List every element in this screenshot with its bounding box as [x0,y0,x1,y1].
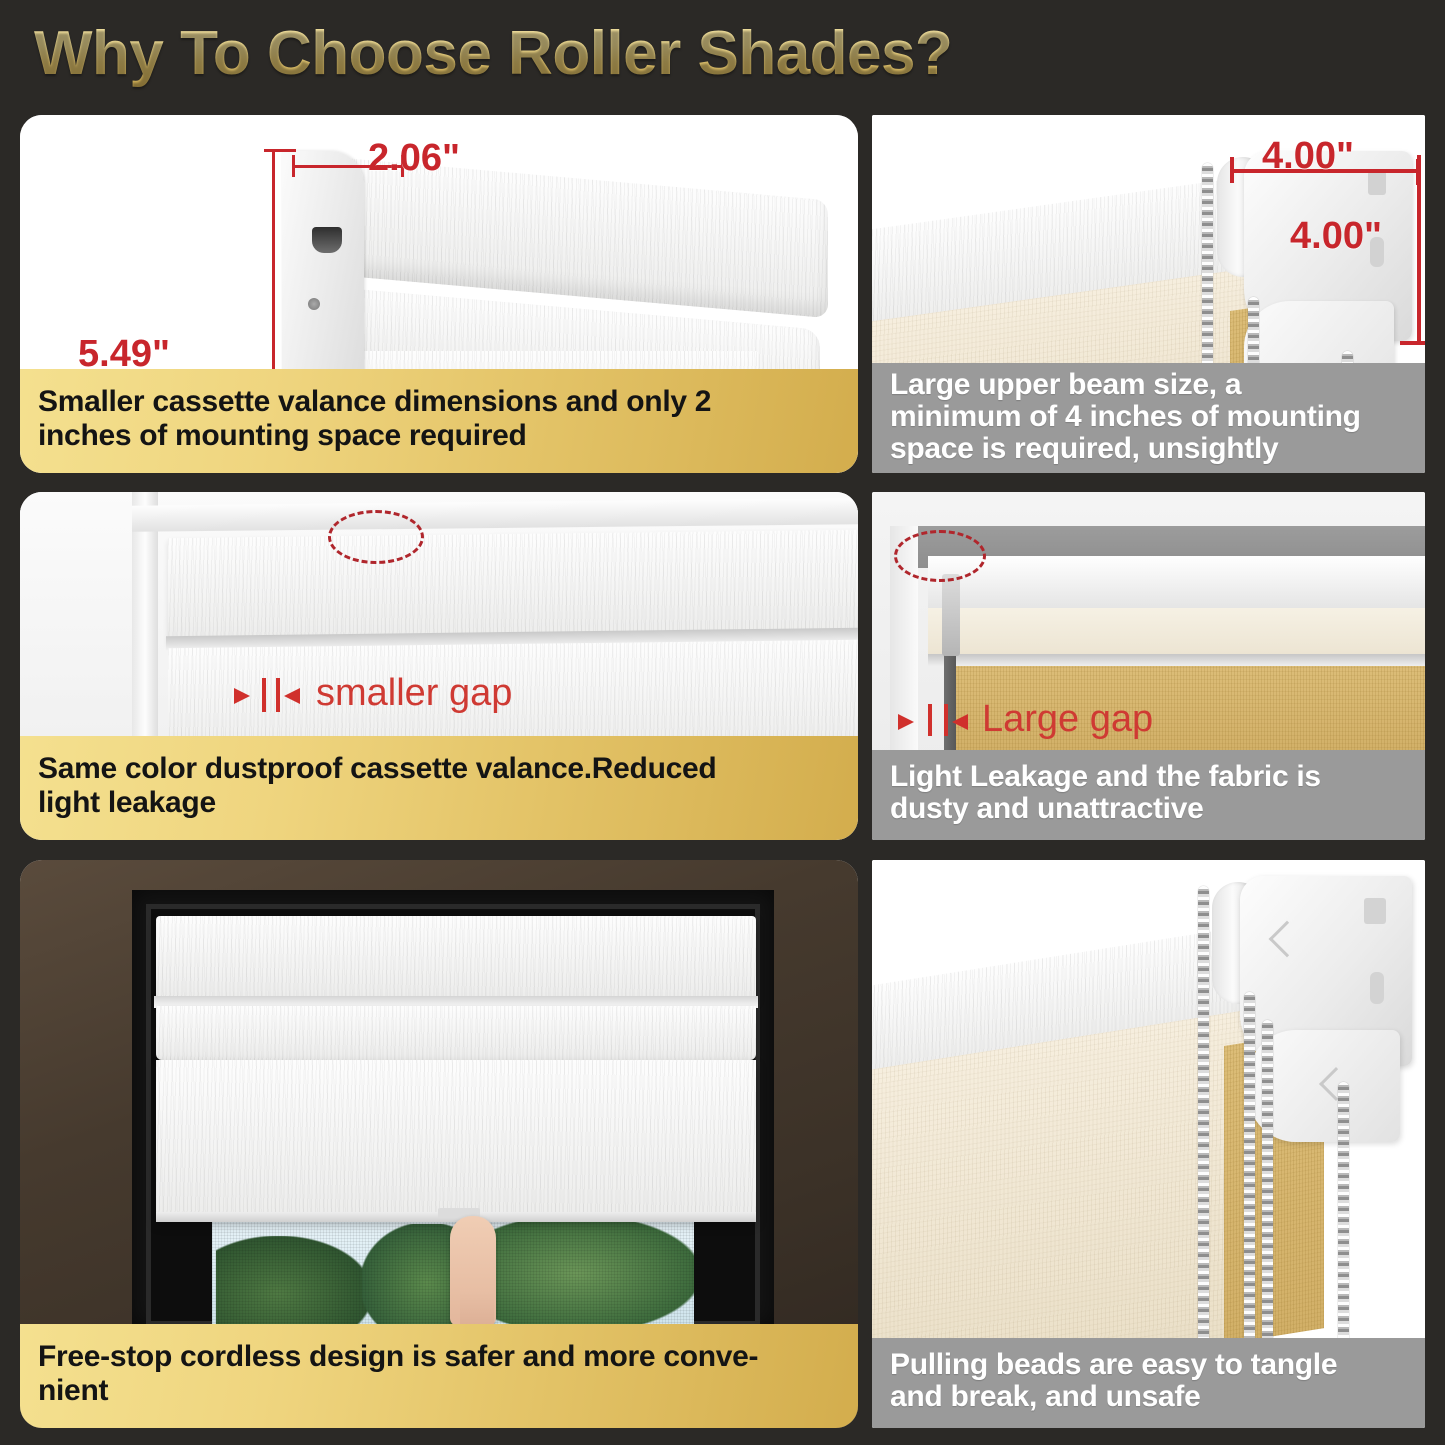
gap-tick-left [262,678,266,712]
beam-height-label: 4.00" [1290,215,1382,258]
caption-text: Large upper beam size, a minimum of 4 in… [890,369,1361,464]
bracket-clip [942,574,960,656]
gap-tick-left [928,704,932,736]
gap-arrow-right [952,714,968,730]
headrail-lower-edge [928,654,1425,666]
width-dimension-tick-left [292,155,295,177]
caption-text: Smaller cassette valance dimensions and … [38,385,711,452]
panel-caption-cordless-window: Free-stop cordless design is safer and m… [20,1324,858,1428]
infographic-page: Why To Choose Roller Shades? 2.06" 5.49" [0,0,1445,1445]
headrail-beam [928,556,1425,612]
bracket-slot-upper [312,227,342,253]
panel-caption-light-leakage: Light Leakage and the fabric is dusty an… [872,750,1425,840]
bead-chain-left [1198,886,1209,1346]
panel-cassette-dimensions: 2.06" 5.49" Smaller cassette valance dim… [20,115,858,473]
headrail-fabric-band [928,608,1425,656]
beam-height-line [1417,155,1421,345]
caption-text: Light Leakage and the fabric is dusty an… [890,761,1321,825]
beam-width-tick-left [1230,157,1234,183]
gap-highlight-oval [894,530,986,582]
window-frame-left-jamb [132,492,158,760]
gap-callout-label: smaller gap [316,672,512,715]
panel-caption-large-upper-beam: Large upper beam size, a minimum of 4 in… [872,363,1425,473]
panel-cordless-window: Free-stop cordless design is safer and m… [20,860,858,1428]
panel-light-leakage: Large gap Light Leakage and the fabric i… [872,492,1425,840]
panel-caption-cassette-dimensions: Smaller cassette valance dimensions and … [20,369,858,473]
caption-text: Pulling beads are easy to tangle and bre… [890,1349,1337,1413]
window-cassette-second [156,1006,756,1060]
gap-callout-label: Large gap [982,698,1153,741]
panel-large-upper-beam: 4.00" 4.00" Large upper beam size, a min… [872,115,1425,473]
page-title-text: Why To Choose Roller Shades? [34,18,952,89]
caption-text: Free-stop cordless design is safer and m… [38,1340,758,1407]
beam-height-tick-bottom [1400,341,1425,345]
gap-tick-right [276,678,280,712]
bracket-notch-lower [1370,972,1384,1004]
bracket-notch-top [1368,171,1386,195]
panel-caption-pulling-beads: Pulling beads are easy to tangle and bre… [872,1338,1425,1428]
gap-arrow-right [284,688,300,704]
panel-pulling-beads: Pulling beads are easy to tangle and bre… [872,860,1425,1428]
bead-chain-middle-a [1244,992,1255,1346]
gap-tick-right [944,704,948,736]
cassette-valance-band [168,530,858,644]
panel-dustproof-cassette: smaller gap Same color dustproof cassett… [20,492,858,840]
window-shade-fabric [156,1060,756,1218]
page-title: Why To Choose Roller Shades? [0,0,1445,106]
beam-width-label: 4.00" [1262,135,1354,178]
bracket-screw-middle [308,298,320,310]
height-dimension-tick-top [264,149,296,152]
gap-highlight-oval [328,510,424,564]
panel-caption-dustproof-cassette: Same color dustproof cassette valance.Re… [20,736,858,840]
width-dimension-label: 2.06" [368,137,460,180]
gap-arrow-left [898,714,914,730]
bracket-notch-upper [1364,898,1386,924]
caption-text: Same color dustproof cassette valance.Re… [38,752,716,819]
cassette-end-bracket [282,151,364,403]
bead-chain-middle-b [1262,1020,1273,1346]
window-cassette-head [156,916,756,1000]
gap-arrow-left [234,688,250,704]
bead-chain-right [1338,1082,1349,1346]
